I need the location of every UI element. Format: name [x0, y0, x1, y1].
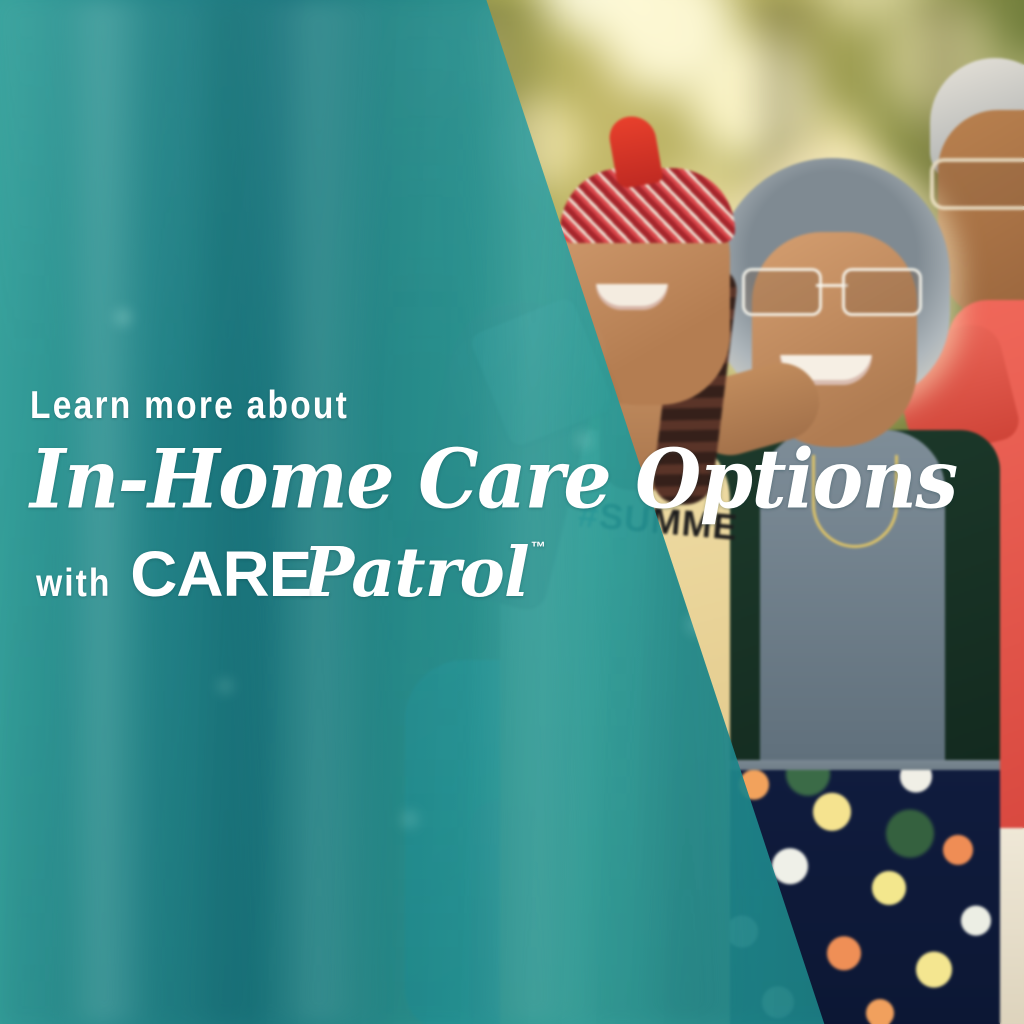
headline-copy-block: Learn more about In-Home Care Options wi…: [30, 386, 710, 613]
trademark-icon: ™: [531, 539, 546, 556]
headline-eyebrow: Learn more about: [30, 386, 615, 425]
grandfather-glasses-icon: [930, 158, 1024, 210]
grandfather-face: [938, 110, 1024, 325]
with-label: with: [36, 562, 111, 606]
headline-main: In-Home Care Options: [30, 439, 710, 520]
logo-care-wordmark: CARE: [130, 537, 311, 611]
logo-patrol-script: Patrol: [303, 533, 529, 613]
brand-logo-line: with CAREPatrol™: [30, 533, 710, 613]
grandmother-glasses-icon: [742, 268, 922, 310]
carepatrol-logo: CAREPatrol™: [132, 533, 544, 613]
banner-ad: #SUMME Learn more about In-Home Care Opt…: [0, 0, 1024, 1024]
